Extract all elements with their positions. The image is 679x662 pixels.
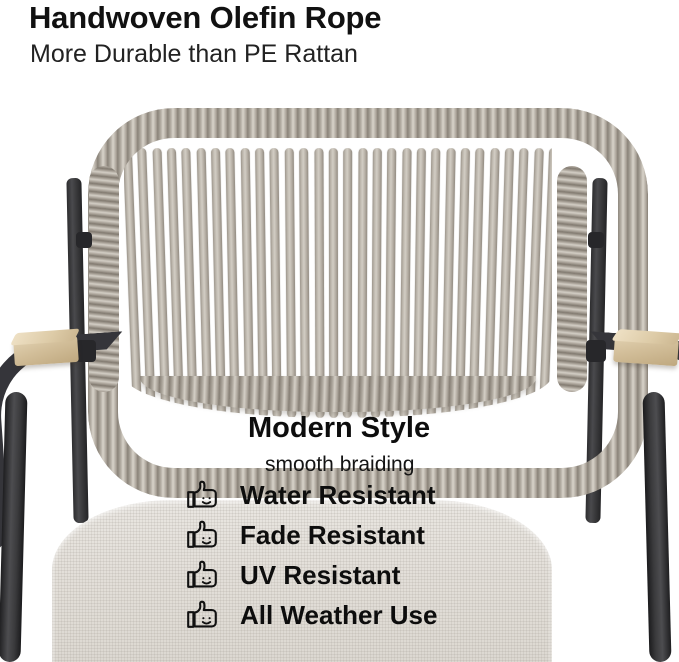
headline-block: Handwoven Olefin Rope More Durable than … bbox=[29, 0, 381, 70]
feature-row: Water Resistant bbox=[186, 478, 437, 512]
feature-row: UV Resistant bbox=[186, 558, 437, 592]
feature-label: Water Resistant bbox=[240, 482, 436, 508]
page-title: Handwoven Olefin Rope bbox=[29, 0, 381, 36]
product-feature-image: Handwoven Olefin Rope More Durable than … bbox=[0, 0, 679, 662]
thumbs-up-smiley-icon bbox=[186, 479, 220, 511]
thumbs-up-smiley-icon bbox=[186, 519, 220, 551]
callout-layer: Modern Style smooth braiding Water Resis… bbox=[0, 0, 679, 662]
page-subtitle: More Durable than PE Rattan bbox=[30, 38, 381, 70]
thumbs-up-smiley-icon bbox=[186, 599, 220, 631]
thumbs-up-smiley-icon bbox=[186, 559, 220, 591]
feature-label: All Weather Use bbox=[240, 602, 437, 628]
callout-subheading: smooth braiding bbox=[265, 453, 414, 477]
feature-label: UV Resistant bbox=[240, 562, 400, 588]
feature-row: All Weather Use bbox=[186, 598, 437, 632]
feature-list: Water ResistantFade ResistantUV Resistan… bbox=[186, 478, 437, 632]
feature-row: Fade Resistant bbox=[186, 518, 437, 552]
feature-label: Fade Resistant bbox=[240, 522, 425, 548]
callout-heading: Modern Style bbox=[248, 412, 430, 445]
